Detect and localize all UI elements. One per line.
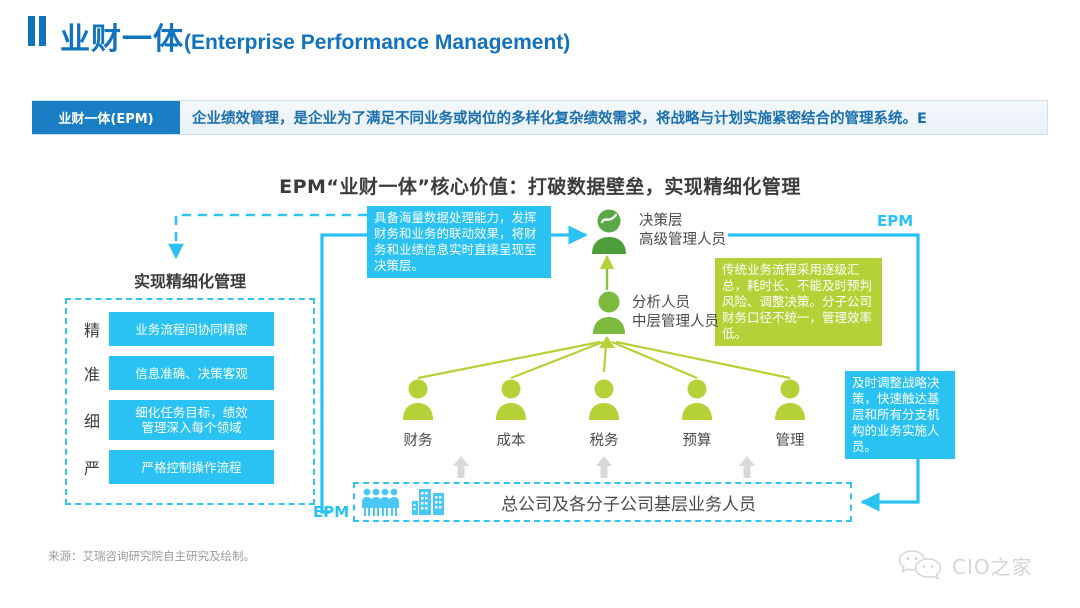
mid-layer-line2: 中层管理人员 xyxy=(632,313,719,332)
callout-traditional-process: 传统业务流程采用逐级汇总，耗时长、不能及时预判风险、调整决策。分子公司财务口径不… xyxy=(715,258,882,346)
person-icon-analyst xyxy=(589,290,629,336)
decision-layer-line1: 决策层 xyxy=(639,212,726,231)
person-icon-role xyxy=(491,378,531,422)
wire-role-cost-to-mid xyxy=(511,342,603,378)
left-panel-value-3: 细化任务目标，绩效 管理深入每个领域 xyxy=(109,400,274,440)
person-icon-senior xyxy=(588,208,630,256)
role-cost-label: 成本 xyxy=(479,429,543,450)
person-mid-layer xyxy=(589,290,629,341)
role-budget: 预算 xyxy=(665,378,729,450)
watermark: CIO之家 xyxy=(898,548,1033,582)
person-decision-layer xyxy=(588,208,630,261)
mid-layer-label: 分析人员 中层管理人员 xyxy=(632,294,719,332)
role-tax-label: 税务 xyxy=(572,429,636,450)
wechat-icon xyxy=(898,548,944,582)
left-panel-key-3: 细 xyxy=(75,408,109,432)
decision-layer-line2: 高级管理人员 xyxy=(639,231,726,250)
epm-label-top-right: EPM xyxy=(877,212,913,230)
wire-role-tax-to-mid xyxy=(604,344,606,372)
role-finance: 财务 xyxy=(386,378,450,450)
base-layer-label: 总公司及各分子公司基层业务人员 xyxy=(451,490,850,515)
wire-role-budget-to-mid xyxy=(612,342,697,378)
left-panel-row-1: 精 业务流程间协同精密 xyxy=(75,312,274,346)
left-panel-row-2: 准 信息准确、决策客观 xyxy=(75,356,274,390)
watermark-text: CIO之家 xyxy=(952,551,1033,580)
buildings-icon xyxy=(411,487,451,517)
left-panel-value-2: 信息准确、决策客观 xyxy=(109,356,274,390)
person-icon-role xyxy=(398,378,438,422)
role-finance-label: 财务 xyxy=(386,429,450,450)
role-tax: 税务 xyxy=(572,378,636,450)
left-panel-value-4: 严格控制操作流程 xyxy=(109,450,274,484)
role-management: 管理 xyxy=(758,378,822,450)
epm-label-bottom-left: EPM xyxy=(313,503,349,521)
source-note: 来源：艾瑞咨询研究院自主研究及绘制。 xyxy=(48,548,255,564)
left-panel-row-3: 细 细化任务目标，绩效 管理深入每个领域 xyxy=(75,400,274,440)
role-budget-label: 预算 xyxy=(665,429,729,450)
person-icon-role xyxy=(770,378,810,422)
decision-layer-label: 决策层 高级管理人员 xyxy=(639,212,726,250)
wire-role-mgmt-to-mid xyxy=(616,342,790,378)
callout-strategy-adjust: 及时调整战略决策，快速触达基层和所有分支机构的业务实施人员。 xyxy=(845,371,955,459)
left-panel-row-4: 严 严格控制操作流程 xyxy=(75,450,274,484)
person-icon-role xyxy=(584,378,624,422)
left-panel-key-1: 精 xyxy=(75,317,109,341)
wire-role-finance-to-mid xyxy=(418,342,600,378)
left-panel-value-1: 业务流程间协同精密 xyxy=(109,312,274,346)
role-cost: 成本 xyxy=(479,378,543,450)
base-layer-box: 总公司及各分子公司基层业务人员 xyxy=(353,482,852,522)
left-panel-key-2: 准 xyxy=(75,361,109,385)
left-panel-title: 实现精细化管理 xyxy=(90,268,290,292)
mid-layer-line1: 分析人员 xyxy=(632,294,719,313)
left-panel-key-4: 严 xyxy=(75,455,109,479)
slide-canvas: 业财一体 (Enterprise Performance Management)… xyxy=(0,0,1080,608)
gray-upward-arrows xyxy=(453,456,755,478)
role-management-label: 管理 xyxy=(758,429,822,450)
callout-data-capability: 具备海量数据处理能力，发挥财务和业务的联动效果，将财务和业绩信息实时直接呈现至决… xyxy=(367,206,551,278)
person-icon-role xyxy=(677,378,717,422)
people-group-icon xyxy=(361,487,403,517)
